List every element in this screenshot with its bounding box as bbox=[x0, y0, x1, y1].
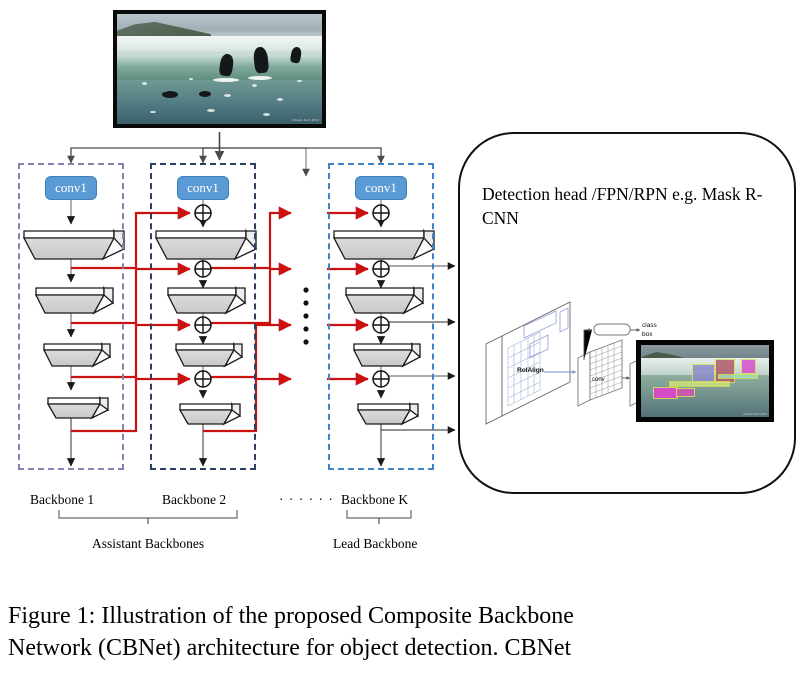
input-image: Alfredo Ruiz 2013 bbox=[113, 10, 326, 128]
mask-rcnn-schematic: RoIAlign conv conv bbox=[484, 296, 780, 448]
assistant-backbones-label: Assistant Backbones bbox=[92, 536, 204, 552]
detection-head-title-line1: Detection head /FPN/RPN bbox=[482, 184, 668, 204]
backbone-2-frame bbox=[150, 163, 256, 470]
roialign-label: RoIAlign bbox=[517, 367, 544, 374]
backbone-ellipsis: · · · · · · bbox=[279, 492, 334, 508]
backbone-k-frame bbox=[328, 163, 434, 470]
conv1-label: conv1 bbox=[365, 180, 397, 195]
backbone-1-label: Backbone 1 bbox=[30, 492, 94, 508]
input-image-credit: Alfredo Ruiz 2013 bbox=[292, 118, 319, 122]
conv-label-1: conv bbox=[592, 377, 605, 383]
lead-backbone-label: Lead Backbone bbox=[333, 536, 417, 552]
caption-line-1: Figure 1: Illustration of the proposed C… bbox=[8, 600, 798, 632]
backbone-2-conv1-block: conv1 bbox=[177, 176, 229, 200]
backbone-1-frame bbox=[18, 163, 124, 470]
figure-root: Alfredo Ruiz 2013 bbox=[0, 0, 806, 674]
figure-caption: Figure 1: Illustration of the proposed C… bbox=[8, 600, 798, 664]
conv1-label: conv1 bbox=[55, 180, 87, 195]
class-output-label: class bbox=[642, 322, 658, 329]
caption-line-2: Network (CBNet) architecture for object … bbox=[8, 632, 798, 664]
detection-result-credit: Alfredo Ruiz 2013 bbox=[743, 412, 767, 416]
backbone-k-conv1-block: conv1 bbox=[355, 176, 407, 200]
backbone-k-label: Backbone K bbox=[341, 492, 408, 508]
backbone-2-label: Backbone 2 bbox=[162, 492, 226, 508]
conv1-label: conv1 bbox=[187, 180, 219, 195]
backbone-1-conv1-block: conv1 bbox=[45, 176, 97, 200]
detection-result-image: Alfredo Ruiz 2013 bbox=[636, 340, 774, 422]
detection-head-title: Detection head /FPN/RPN e.g. Mask R-CNN bbox=[482, 182, 782, 230]
box-output-label: box bbox=[642, 331, 653, 338]
